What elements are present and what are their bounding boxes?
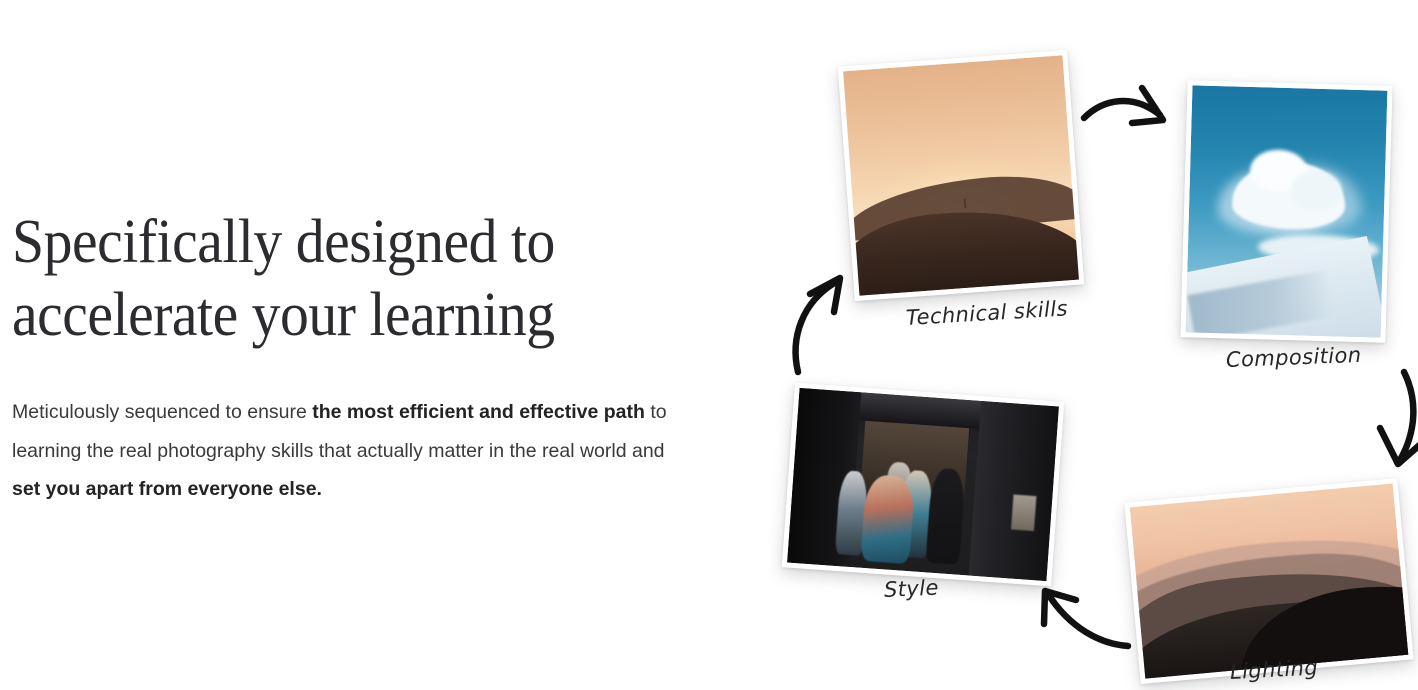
photo-collage: Technical skills Composition Style Light… bbox=[760, 0, 1418, 690]
sunset-photo bbox=[843, 55, 1079, 296]
street-photo bbox=[787, 388, 1059, 581]
photo-card-style[interactable] bbox=[782, 383, 1065, 587]
label-style: Style bbox=[883, 576, 939, 602]
photo-card-composition[interactable] bbox=[1180, 80, 1392, 343]
arrow-composition-to-lighting-icon bbox=[1366, 372, 1418, 482]
arrow-lighting-to-style-icon bbox=[1032, 582, 1132, 652]
street-lantern bbox=[1011, 494, 1037, 531]
photo-card-technical-skills[interactable] bbox=[838, 50, 1085, 301]
photo-card-lighting[interactable] bbox=[1124, 478, 1413, 684]
description-bold-1: the most efficient and effective path bbox=[312, 401, 645, 423]
cloud-photo bbox=[1186, 85, 1388, 337]
arrow-technical-to-composition-icon bbox=[1082, 82, 1177, 152]
section-description: Meticulously sequenced to ensure the mos… bbox=[12, 393, 684, 509]
description-bold-2: set you apart from everyone else. bbox=[12, 478, 322, 500]
description-part-1: Meticulously sequenced to ensure bbox=[12, 401, 312, 423]
label-technical-skills: Technical skills bbox=[905, 296, 1068, 330]
label-lighting: Lighting bbox=[1229, 655, 1318, 684]
section-copy: Specifically designed to accelerate your… bbox=[12, 206, 702, 509]
label-composition: Composition bbox=[1226, 343, 1362, 372]
arrow-style-to-technical-icon bbox=[788, 272, 863, 377]
street-right-wall bbox=[969, 401, 1059, 581]
page-title: Specifically designed to accelerate your… bbox=[12, 206, 654, 351]
mountains-photo bbox=[1130, 483, 1409, 678]
